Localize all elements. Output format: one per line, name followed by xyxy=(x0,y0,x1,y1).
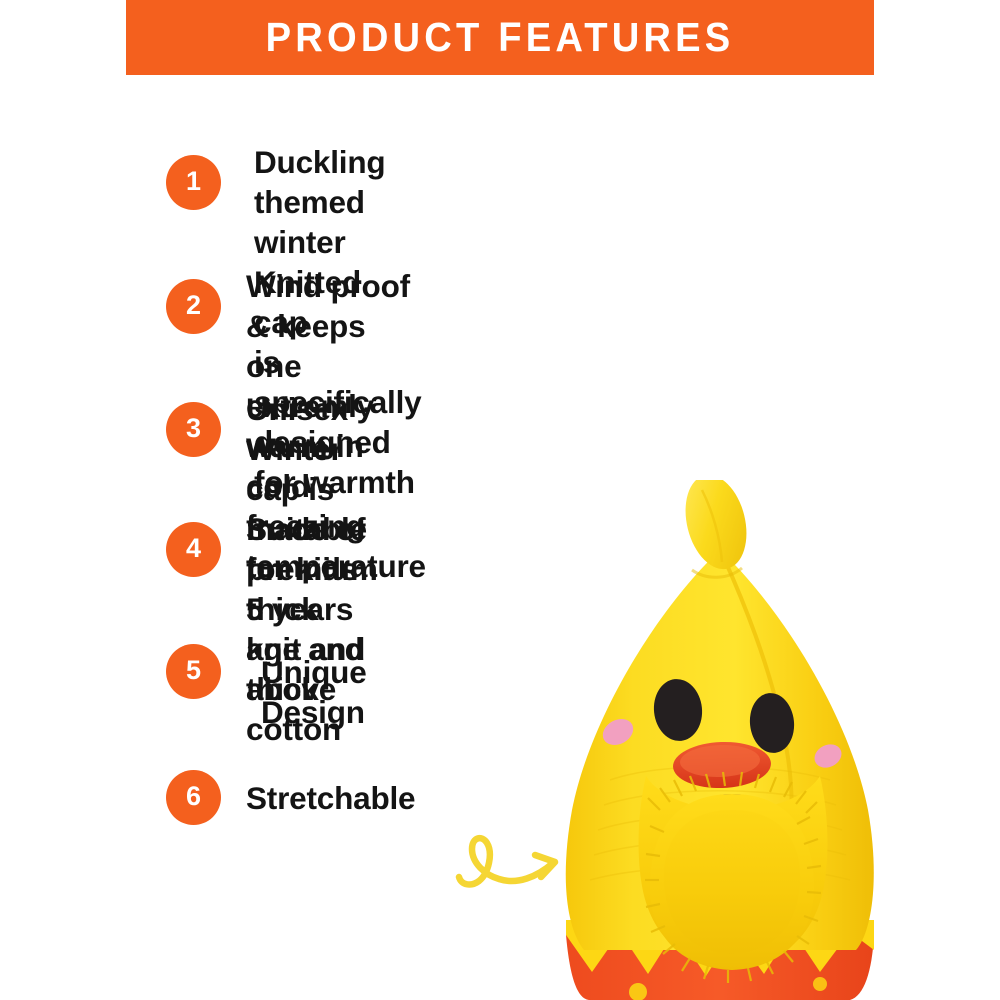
feature-number-badge-4: 4 xyxy=(166,522,221,577)
feature-number-badge-1: 1 xyxy=(166,155,221,210)
product-photo xyxy=(520,480,920,1000)
cap-topknot xyxy=(676,480,756,577)
feature-text-6: Stretchable xyxy=(246,778,415,818)
feature-text-5: Unique Design xyxy=(261,652,367,732)
feature-number-badge-3: 3 xyxy=(166,402,221,457)
feature-number-badge-6: 6 xyxy=(166,770,221,825)
feature-number-badge-5: 5 xyxy=(166,644,221,699)
feature-number-badge-2: 2 xyxy=(166,279,221,334)
curly-arrow-icon xyxy=(455,815,595,910)
